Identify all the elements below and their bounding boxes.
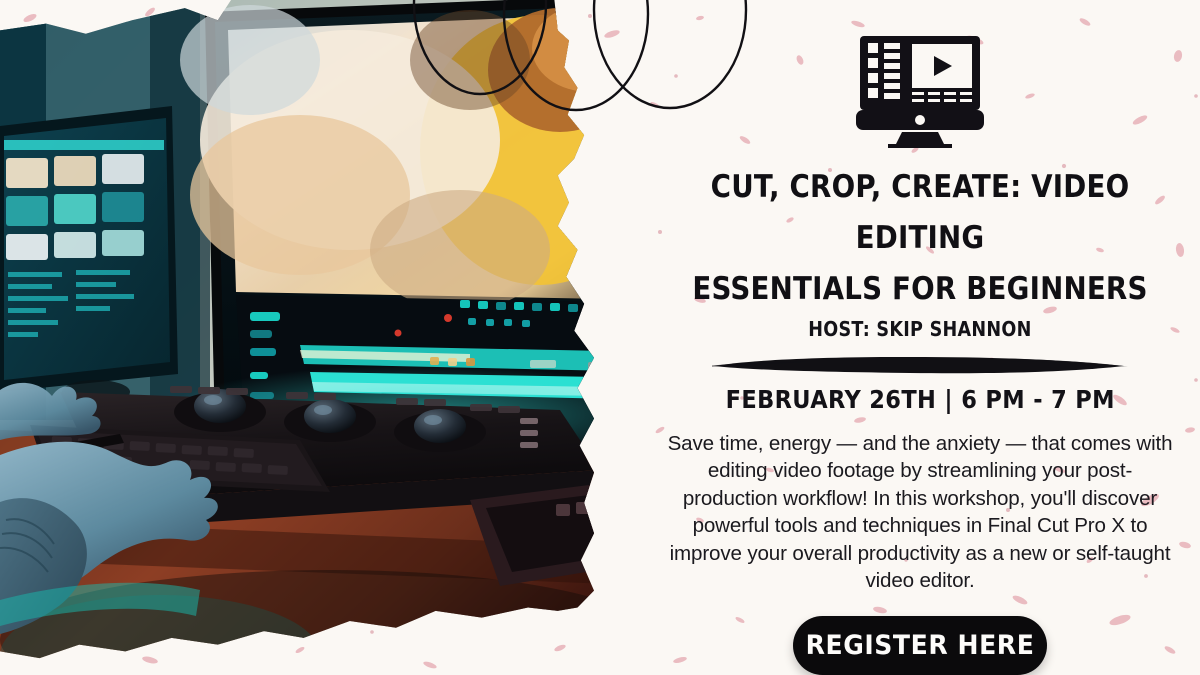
event-date-time: FEBRUARY 26TH | 6 PM - 7 PM: [725, 385, 1114, 414]
event-poster: CUT, CROP, CREATE: VIDEO EDITING ESSENTI…: [0, 0, 1200, 675]
register-button-label: REGISTER HERE: [806, 630, 1035, 661]
workstation-photo: [0, 0, 660, 675]
host-label: HOST: SKIP SHANNON: [808, 317, 1031, 341]
brush-stroke-divider: [710, 353, 1130, 377]
poster-content: CUT, CROP, CREATE: VIDEO EDITING ESSENTI…: [640, 0, 1200, 675]
event-description: Save time, energy — and the anxiety — th…: [662, 430, 1178, 594]
title-line-1: CUT, CROP, CREATE: VIDEO EDITING: [687, 162, 1153, 264]
title-line-2: ESSENTIALS FOR BEGINNERS: [687, 264, 1153, 315]
register-button[interactable]: REGISTER HERE: [793, 616, 1047, 675]
page-title: CUT, CROP, CREATE: VIDEO EDITING ESSENTI…: [687, 162, 1153, 315]
video-editing-monitor-icon: [854, 36, 986, 148]
